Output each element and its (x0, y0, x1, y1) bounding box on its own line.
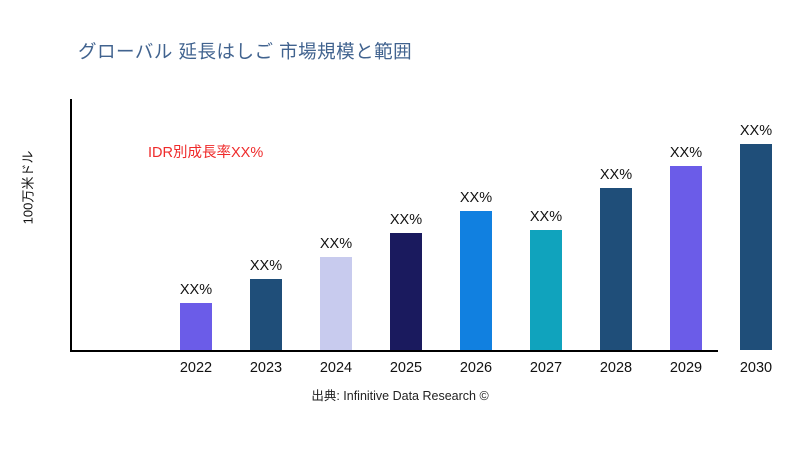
x-tick-2026: 2026 (460, 360, 492, 376)
bar-value-label: XX% (460, 190, 492, 206)
bar-2022[interactable]: XX% (180, 303, 212, 350)
bar-value-label: XX% (180, 282, 212, 298)
plot-area: XX%XX%XX%XX%XX%XX%XX%XX%XX%XX% (70, 99, 785, 352)
x-axis-line (70, 350, 718, 352)
growth-rate-annotation: IDR別成長率XX% (148, 141, 263, 162)
x-tick-2028: 2028 (600, 360, 632, 376)
bar-value-label: XX% (600, 167, 632, 183)
bar-value-label: XX% (740, 123, 772, 139)
bar-2025[interactable]: XX% (390, 233, 422, 350)
x-tick-2023: 2023 (250, 360, 282, 376)
x-tick-2029: 2029 (670, 360, 702, 376)
y-axis-line (70, 99, 72, 352)
bar-2030[interactable]: XX% (740, 144, 772, 350)
chart-container: グローバル 延長はしご 市場規模と範囲 100万米ドル XX%XX%XX%XX%… (0, 0, 800, 450)
chart-title: グローバル 延長はしご 市場規模と範囲 (78, 38, 412, 64)
bar-value-label: XX% (320, 236, 352, 252)
y-axis-title: 100万米ドル (18, 118, 37, 258)
bar-2024[interactable]: XX% (320, 257, 352, 350)
x-tick-2027: 2027 (530, 360, 562, 376)
bar-2023[interactable]: XX% (250, 279, 282, 350)
x-tick-2022: 2022 (180, 360, 212, 376)
source-note: 出典: Infinitive Data Research © (0, 385, 800, 404)
bar-value-label: XX% (670, 145, 702, 161)
bar-2026[interactable]: XX% (460, 211, 492, 350)
bar-value-label: XX% (530, 209, 562, 225)
x-tick-2025: 2025 (390, 360, 422, 376)
bar-value-label: XX% (250, 258, 282, 274)
bar-2028[interactable]: XX% (600, 188, 632, 350)
bar-2027[interactable]: XX% (530, 230, 562, 350)
x-tick-2024: 2024 (320, 360, 352, 376)
x-tick-2030: 2030 (740, 360, 772, 376)
bar-value-label: XX% (390, 212, 422, 228)
bar-2029[interactable]: XX% (670, 166, 702, 350)
